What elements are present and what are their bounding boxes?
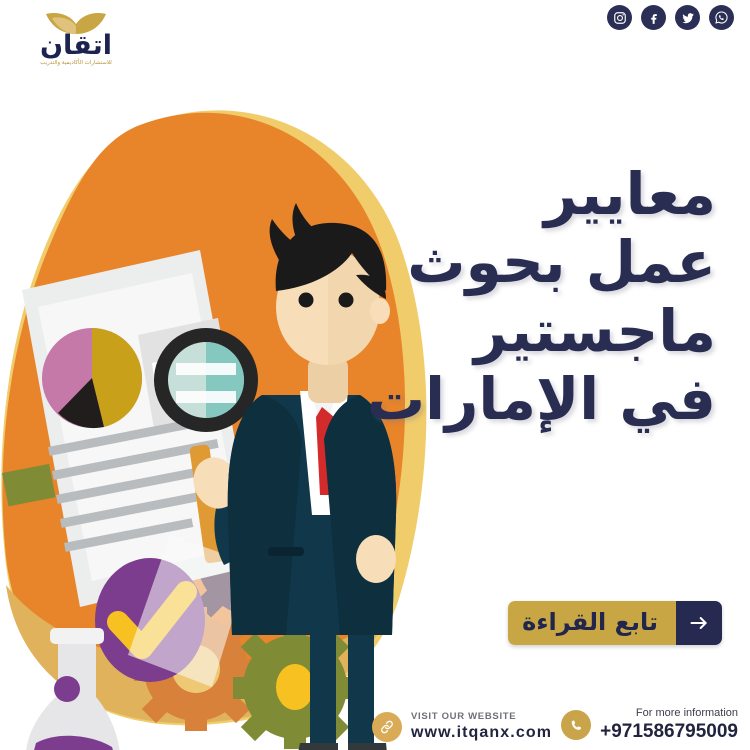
read-more-button[interactable]: تابع القراءة	[508, 601, 722, 645]
footer-bar: VISIT OUR WEBSITE www.itqanx.com For mor…	[0, 698, 750, 750]
phone-value[interactable]: +971586795009	[600, 720, 738, 744]
link-icon	[372, 712, 402, 742]
whatsapp-icon[interactable]	[709, 5, 734, 30]
arrow-right-icon	[676, 601, 722, 645]
headline-line-4: في الإمارات	[356, 365, 716, 433]
phone-block[interactable]: For more information +971586795009	[561, 707, 738, 745]
logo-subtitle: للاستشارات الأكاديمية والتدريب	[16, 60, 136, 66]
website-caption: VISIT OUR WEBSITE	[411, 711, 552, 723]
poster-canvas: اتقان للاستشارات الأكاديمية والتدريب	[0, 0, 750, 750]
website-block[interactable]: VISIT OUR WEBSITE www.itqanx.com	[372, 711, 552, 743]
read-more-label: تابع القراءة	[508, 601, 676, 645]
brand-logo[interactable]: اتقان للاستشارات الأكاديمية والتدريب	[16, 8, 136, 80]
website-value[interactable]: www.itqanx.com	[411, 723, 552, 743]
headline-line-2: عمل بحوث	[356, 228, 716, 296]
headline-line-1: معايير	[356, 160, 716, 228]
facebook-icon[interactable]	[641, 5, 666, 30]
phone-caption: For more information	[600, 707, 738, 721]
instagram-icon[interactable]	[607, 5, 632, 30]
twitter-icon[interactable]	[675, 5, 700, 30]
social-links[interactable]	[607, 5, 734, 30]
pie-chart	[42, 328, 142, 428]
headline-line-3: ماجستير	[356, 297, 716, 365]
phone-icon	[561, 710, 591, 740]
headline: معايير عمل بحوث ماجستير في الإمارات	[356, 160, 716, 434]
logo-wordmark: اتقان	[24, 32, 128, 59]
